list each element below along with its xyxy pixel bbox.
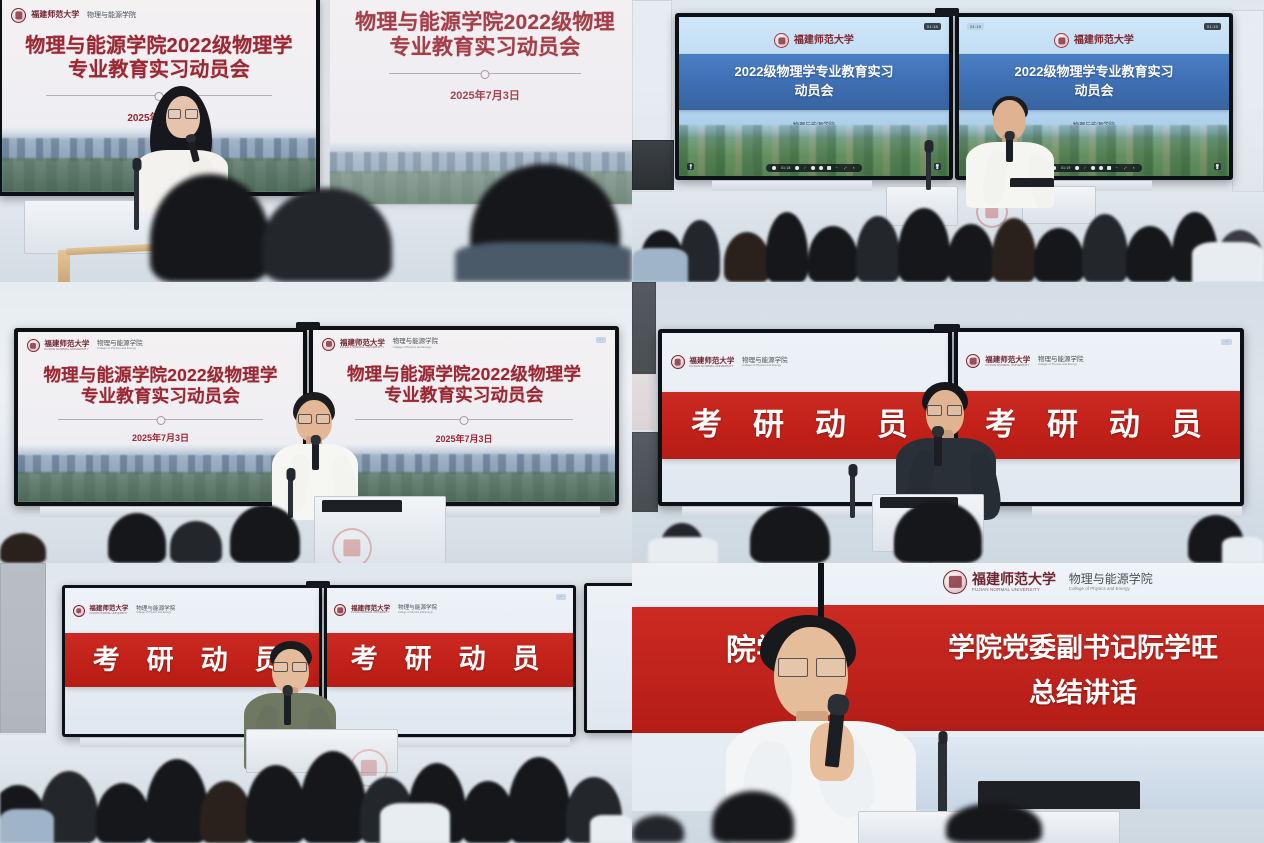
university-name: 福建师范大学FUJIAN NORMAL UNIVERSITY <box>972 572 1056 593</box>
slide-title: 考 研 动 员 <box>93 643 292 678</box>
slide-title-band: 学院党委副书记阮学旺 总结讲话 <box>824 605 1264 731</box>
university-name: 福建师范大学 <box>31 11 79 19</box>
stop-icon <box>1107 166 1111 170</box>
university-logo: 福建师范大学FUJIAN NORMAL UNIVERSITY 物理与能源学院Co… <box>322 338 438 351</box>
camera-bar-icon <box>935 8 959 16</box>
college-name-en: College of Physics and Energy <box>398 612 437 615</box>
college-name-en: College of Physics and Energy <box>393 346 439 349</box>
university-seal-icon <box>73 605 85 617</box>
university-seal-icon <box>27 339 40 352</box>
record-dot-icon <box>1076 166 1080 170</box>
slide2-title-line1: 物理与能源学院2022级物理学 <box>347 364 581 385</box>
college-name-en: College of Physics and Energy <box>742 364 788 367</box>
display-screen-left: 01:18 福建师范大学 2022级物理学专业教育实习 动员会 物理与能源学院 … <box>675 13 953 180</box>
audience-silhouettes <box>632 787 1264 843</box>
handheld-microphone-icon <box>284 691 291 725</box>
university-seal-icon <box>966 354 980 368</box>
slide-title-band: 2022级物理学专业教育实习 动员会 <box>679 54 949 110</box>
slide-header: 福建师范大学FUJIAN NORMAL UNIVERSITY 物理与能源学院Co… <box>824 563 1264 605</box>
university-name-en: FUJIAN NORMAL UNIVERSITY <box>340 346 385 349</box>
wall-panel-left <box>0 563 46 735</box>
user-avatar-icon <box>934 163 941 170</box>
college-name: 物理与能源学院College of Physics and Energy <box>742 358 788 367</box>
collage-photo-4: 福建师范大学FUJIAN NORMAL UNIVERSITY 物理与能源学院Co… <box>632 282 1264 563</box>
university-seal-icon <box>11 8 26 23</box>
slide-red-2: 福建师范大学FUJIAN NORMAL UNIVERSITY 物理与能源学院Co… <box>958 332 1240 502</box>
audience-silhouettes <box>0 493 632 563</box>
slide-date: 2025年7月3日 <box>132 431 189 444</box>
university-name-en: FUJIAN NORMAL UNIVERSITY <box>985 364 1030 367</box>
college-name-en: College of Physics and Energy <box>97 347 143 350</box>
audience-silhouettes <box>632 172 1264 282</box>
university-logo: 福建师范大学 <box>1054 33 1134 48</box>
collage-photo-5: 福建师范大学FUJIAN NORMAL UNIVERSITY 物理与能源学院Co… <box>0 563 632 843</box>
slide-title-line1: 2022级物理学专业教育实习 <box>684 63 943 82</box>
university-logo: 福建师范大学 物理与能源学院 <box>11 8 136 23</box>
slide-title-line1: 物理与能源学院2022级物理学 <box>25 34 293 58</box>
slide2-title-line2: 专业教育实习动员会 <box>384 385 543 406</box>
college-name: 物理与能源学院College of Physics and Energy <box>136 607 175 615</box>
expand-icon[interactable]: ⤢ <box>1123 166 1128 170</box>
camera-bar-icon <box>306 581 330 588</box>
college-name: 物理与能源学院College of Physics and Energy <box>1038 357 1084 366</box>
display-screen-partial <box>584 583 632 733</box>
university-seal-icon <box>671 355 685 369</box>
college-name-en: College of Physics and Energy <box>1069 587 1153 591</box>
slide-title-line1: 物理与能源学院2022级物理学 <box>43 365 277 386</box>
slide-title-line1: 学院党委副书记阮学旺 <box>878 626 1218 665</box>
handheld-microphone-icon <box>934 432 942 466</box>
university-name: 福建师范大学FUJIAN NORMAL UNIVERSITY <box>44 340 89 351</box>
slide-divider <box>46 95 272 96</box>
prev-icon <box>1091 166 1095 170</box>
university-name: 福建师范大学FUJIAN NORMAL UNIVERSITY <box>689 357 734 368</box>
record-dot-icon <box>796 166 800 170</box>
glasses-icon <box>273 663 307 671</box>
university-logo: 福建师范大学 <box>774 33 854 48</box>
screen-corner-tag: ··· <box>1221 339 1231 345</box>
slide-title-line2: 动员会 <box>684 82 943 101</box>
camera-bar-icon <box>296 322 320 330</box>
glasses-icon <box>298 415 330 423</box>
university-name-en: FUJIAN NORMAL UNIVERSITY <box>44 348 89 351</box>
play-icon <box>1099 166 1103 170</box>
collage-photo-6: 院学旺 福建师范大学FUJIAN NORMAL UNIVERSITY 物理与能源… <box>632 563 1264 843</box>
audience-silhouettes <box>0 733 632 843</box>
stop-icon <box>827 166 831 170</box>
prev-icon <box>811 166 815 170</box>
university-logo: 福建师范大学FUJIAN NORMAL UNIVERSITY 物理与能源学院Co… <box>966 354 1083 368</box>
screen-corner-tag: 01:18 <box>924 23 941 30</box>
university-seal-icon <box>322 338 335 351</box>
wall-panel-right <box>1232 10 1264 192</box>
display-screen-left: 福建师范大学FUJIAN NORMAL UNIVERSITY 物理与能源学院Co… <box>14 328 307 506</box>
university-seal-icon <box>943 570 967 594</box>
slide2-title-line1: 物理与能源学院2022级物理 <box>355 10 615 36</box>
screen-corner-tag: ··· <box>556 594 566 600</box>
audience-silhouettes <box>0 162 632 282</box>
slide2-divider <box>355 419 572 420</box>
toolbar-timer: 01:18 <box>780 166 791 170</box>
university-logo: 福建师范大学FUJIAN NORMAL UNIVERSITY 物理与能源学院Co… <box>671 355 788 369</box>
university-seal-icon <box>774 33 789 48</box>
slide2-date: 2025年7月3日 <box>450 87 520 103</box>
play-icon <box>819 166 823 170</box>
minimize-icon[interactable]: − <box>1115 166 1119 170</box>
camera-bar-icon <box>934 324 960 332</box>
university-name-en: FUJIAN NORMAL UNIVERSITY <box>89 613 128 616</box>
slide-title: 考 研 动 员 <box>351 642 550 677</box>
glasses-icon <box>168 110 198 118</box>
wall-accent <box>632 372 654 430</box>
slide-title: 考 研 动 员 <box>985 405 1213 445</box>
university-logo: 福建师范大学FUJIAN NORMAL UNIVERSITY 物理与能源学院Co… <box>27 339 143 352</box>
slide2-title-line2: 专业教育实习动员会 <box>390 35 581 61</box>
university-name-en: FUJIAN NORMAL UNIVERSITY <box>972 588 1056 593</box>
college-name: 物理与能源学院College of Physics and Energy <box>398 606 437 614</box>
slide-title: 考 研 动 员 <box>691 405 919 445</box>
slide-red-2: 福建师范大学FUJIAN NORMAL UNIVERSITY 物理与能源学院Co… <box>327 588 573 734</box>
close-icon[interactable]: × <box>852 166 856 170</box>
close-icon[interactable]: × <box>1132 166 1136 170</box>
college-name-en: College of Physics and Energy <box>1038 363 1084 366</box>
user-avatar-icon <box>1214 163 1221 170</box>
university-name: 福建师范大学FUJIAN NORMAL UNIVERSITY <box>985 356 1030 367</box>
slide-white-2: 福建师范大学FUJIAN NORMAL UNIVERSITY 物理与能源学院Co… <box>313 330 615 502</box>
glasses-icon <box>927 406 962 415</box>
minimize-icon[interactable]: − <box>835 166 839 170</box>
university-name: 福建师范大学FUJIAN NORMAL UNIVERSITY <box>351 606 390 615</box>
college-name-en: College of Physics and Energy <box>136 612 175 615</box>
university-name: 福建师范大学 <box>794 36 854 46</box>
slide-blue-1: 01:18 福建师范大学 2022级物理学专业教育实习 动员会 物理与能源学院 … <box>679 17 949 176</box>
university-seal-icon <box>1054 33 1069 48</box>
university-name-en: FUJIAN NORMAL UNIVERSITY <box>689 365 734 368</box>
toolbar-timer: 01:19 <box>1060 166 1071 170</box>
slide-white-1: 福建师范大学FUJIAN NORMAL UNIVERSITY 物理与能源学院Co… <box>18 332 303 502</box>
collage-photo-1: 福建师范大学 物理与能源学院 物理与能源学院2022级物理学 专业教育实习动员会… <box>0 0 632 282</box>
university-name-en: FUJIAN NORMAL UNIVERSITY <box>351 612 390 615</box>
college-name: 物理与能源学院College of Physics and Energy <box>97 341 143 350</box>
pen-icon[interactable]: / <box>804 166 807 170</box>
slide-title-line2: 专业教育实习动员会 <box>81 386 240 407</box>
screen-corner-tag: ··· <box>596 337 606 343</box>
university-name: 福建师范大学FUJIAN NORMAL UNIVERSITY <box>340 339 385 350</box>
university-logo: 福建师范大学FUJIAN NORMAL UNIVERSITY 物理与能源学院Co… <box>943 570 1153 594</box>
presentation-toolbar[interactable]: 01:18 / − ⤢ × <box>766 164 862 172</box>
display-screen-right: 福建师范大学FUJIAN NORMAL UNIVERSITY 物理与能源学院Co… <box>324 585 576 737</box>
display-screen-right: 福建师范大学FUJIAN NORMAL UNIVERSITY 物理与能源学院Co… <box>954 328 1244 506</box>
photo-collage: 福建师范大学 物理与能源学院 物理与能源学院2022级物理学 专业教育实习动员会… <box>0 0 1264 843</box>
audience-silhouettes <box>632 491 1264 563</box>
university-name: 福建师范大学FUJIAN NORMAL UNIVERSITY <box>89 606 128 615</box>
collage-photo-3: 福建师范大学FUJIAN NORMAL UNIVERSITY 物理与能源学院Co… <box>0 282 632 563</box>
pen-icon[interactable]: / <box>1084 166 1087 170</box>
screen-corner-tag: 01:19 <box>1204 23 1221 30</box>
university-seal-icon <box>334 604 346 616</box>
college-name: 物理与能源学院 <box>87 12 136 19</box>
expand-icon[interactable]: ⤢ <box>843 166 848 170</box>
university-name: 福建师范大学 <box>1074 36 1134 46</box>
glasses-icon <box>778 659 846 676</box>
college-name: 物理与能源学院College of Physics and Energy <box>1069 573 1153 591</box>
slide2-divider <box>389 73 581 74</box>
screen-corner-tag-left: 01:19 <box>967 23 984 30</box>
wall-panel-dark <box>632 282 656 374</box>
user-avatar-icon <box>687 163 694 170</box>
collage-photo-2: 01:18 福建师范大学 2022级物理学专业教育实习 动员会 物理与能源学院 … <box>632 0 1264 282</box>
handheld-microphone-icon <box>312 440 319 470</box>
university-logo: 福建师范大学FUJIAN NORMAL UNIVERSITY 物理与能源学院Co… <box>73 605 176 617</box>
slide-title-line2: 总结讲话 <box>959 671 1137 710</box>
university-logo: 福建师范大学FUJIAN NORMAL UNIVERSITY 物理与能源学院Co… <box>334 604 437 616</box>
slide-title-line1: 2022级物理学专业教育实习 <box>964 63 1223 82</box>
presentation-toolbar[interactable]: 01:19 / − ⤢ × <box>1046 164 1142 172</box>
slide-divider <box>58 419 263 420</box>
slide-title-line2: 专业教育实习动员会 <box>68 58 250 82</box>
college-name: 物理与能源学院College of Physics and Energy <box>393 339 439 348</box>
handheld-microphone-icon <box>1006 136 1013 162</box>
